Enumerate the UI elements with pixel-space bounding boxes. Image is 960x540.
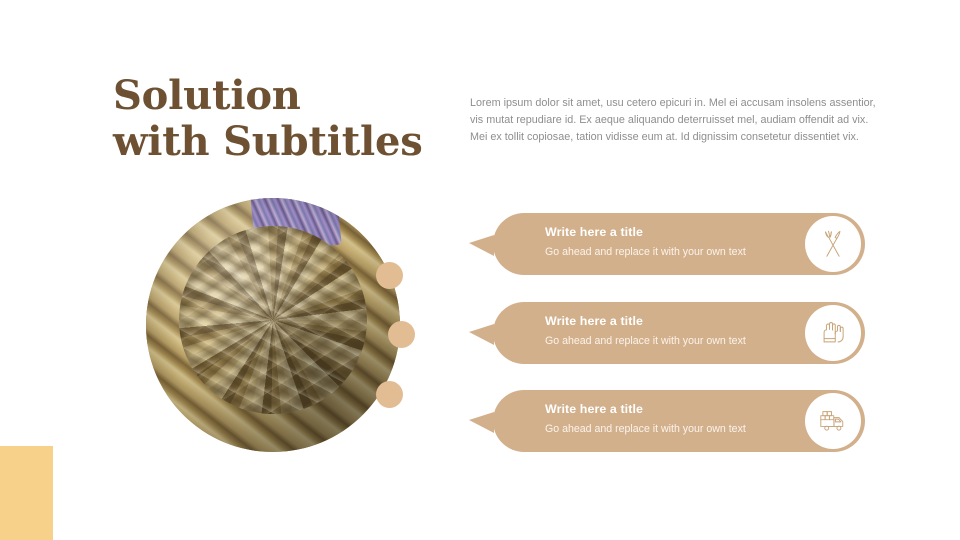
connector-dot-3 bbox=[376, 381, 403, 408]
callout-title-2: Write here a title bbox=[545, 313, 795, 330]
crossed-utensils-icon bbox=[805, 216, 861, 272]
callout-bubble-2[interactable]: Write here a title Go ahead and replace … bbox=[493, 302, 865, 364]
callout-subtitle-3: Go ahead and replace it with your own te… bbox=[545, 422, 795, 437]
callout-title-1: Write here a title bbox=[545, 224, 795, 241]
gloves-icon bbox=[805, 305, 861, 361]
connector-dot-2 bbox=[388, 321, 415, 348]
callout-text-1: Write here a title Go ahead and replace … bbox=[545, 224, 795, 260]
callout-text-2: Write here a title Go ahead and replace … bbox=[545, 313, 795, 349]
delivery-truck-icon bbox=[805, 393, 861, 449]
photo-vignette bbox=[146, 198, 400, 452]
accent-block bbox=[0, 446, 53, 540]
callout-subtitle-1: Go ahead and replace it with your own te… bbox=[545, 245, 795, 260]
callout-subtitle-2: Go ahead and replace it with your own te… bbox=[545, 334, 795, 349]
callout-title-3: Write here a title bbox=[545, 401, 795, 418]
callout-tail-1 bbox=[469, 235, 494, 256]
callout-tail-3 bbox=[469, 412, 494, 433]
connector-dot-1 bbox=[376, 262, 403, 289]
callout-tail-2 bbox=[469, 324, 494, 345]
intro-paragraph: Lorem ipsum dolor sit amet, usu cetero e… bbox=[470, 95, 888, 147]
callout-bubble-3[interactable]: Write here a title Go ahead and replace … bbox=[493, 390, 865, 452]
callout-text-3: Write here a title Go ahead and replace … bbox=[545, 401, 795, 437]
photo-circle bbox=[146, 198, 400, 452]
callout-bubble-1[interactable]: Write here a title Go ahead and replace … bbox=[493, 213, 865, 275]
